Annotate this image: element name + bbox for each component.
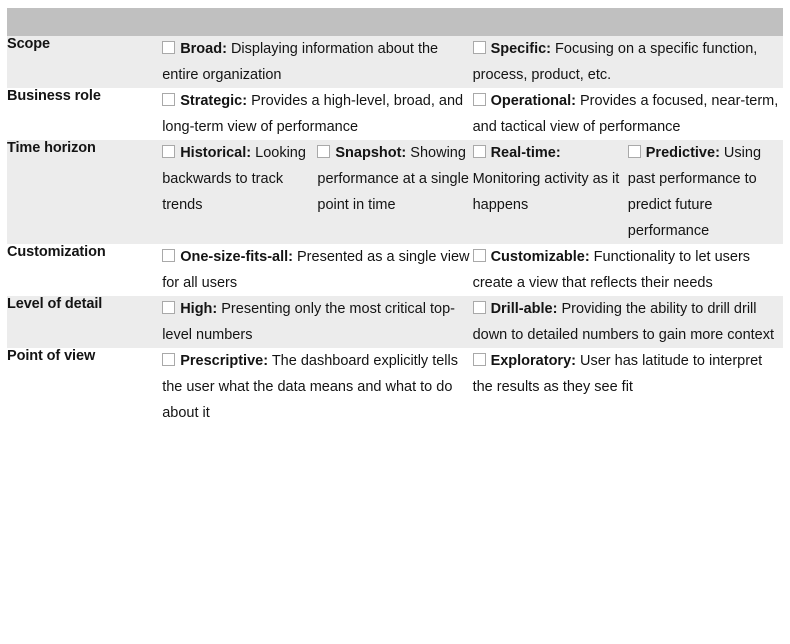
option-term: Predictive: — [646, 145, 720, 161]
option-content: Specific: Focusing on a specific functio… — [473, 36, 783, 88]
table-row: Point of viewPrescriptive: The dashboard… — [7, 348, 783, 426]
checkbox-empty-icon[interactable] — [162, 249, 175, 262]
checkbox-empty-icon[interactable] — [473, 145, 486, 158]
checkbox-empty-icon[interactable] — [473, 41, 486, 54]
option-content: Historical: Looking backwards to track t… — [162, 140, 317, 218]
option-term: Drill-able: — [491, 301, 558, 317]
option-content: Operational: Provides a focused, near-te… — [473, 88, 783, 140]
option-term: Operational: — [491, 93, 576, 109]
option-term: High: — [180, 301, 217, 317]
table-body: ScopeBroad: Displaying information about… — [7, 8, 783, 426]
option-term: Prescriptive: — [180, 353, 268, 369]
option-cell[interactable]: Customizable: Functionality to let users… — [473, 244, 783, 296]
checkbox-empty-icon[interactable] — [162, 93, 175, 106]
option-cell[interactable]: Real-time: Monitoring activity as it hap… — [473, 140, 628, 244]
checkbox-empty-icon[interactable] — [162, 353, 175, 366]
dashboard-characteristics-table: ScopeBroad: Displaying information about… — [7, 8, 783, 426]
table-row: Level of detailHigh: Presenting only the… — [7, 296, 783, 348]
table-header-bar — [7, 8, 783, 36]
checkbox-empty-icon[interactable] — [317, 145, 330, 158]
option-content: High: Presenting only the most critical … — [162, 296, 472, 348]
option-cell[interactable]: Exploratory: User has latitude to interp… — [473, 348, 783, 426]
checkbox-empty-icon[interactable] — [162, 145, 175, 158]
option-term: One-size-fits-all: — [180, 249, 293, 265]
checkbox-empty-icon[interactable] — [473, 353, 486, 366]
table-row: Business roleStrategic: Provides a high-… — [7, 88, 783, 140]
option-term: Specific: — [491, 41, 551, 57]
checkbox-empty-icon[interactable] — [473, 93, 486, 106]
checkbox-empty-icon[interactable] — [628, 145, 641, 158]
option-cell[interactable]: Broad: Displaying information about the … — [162, 36, 472, 88]
table-row: ScopeBroad: Displaying information about… — [7, 36, 783, 88]
option-cell[interactable]: Predictive: Using past performance to pr… — [628, 140, 783, 244]
option-term: Real-time: — [491, 145, 561, 161]
option-cell[interactable]: Snapshot: Showing performance at a singl… — [317, 140, 472, 244]
option-cell[interactable]: High: Presenting only the most critical … — [162, 296, 472, 348]
option-term: Strategic: — [180, 93, 247, 109]
row-label-5: Point of view — [7, 348, 162, 426]
option-content: Real-time: Monitoring activity as it hap… — [473, 140, 628, 218]
option-content: Predictive: Using past performance to pr… — [628, 140, 783, 244]
table-row: Time horizonHistorical: Looking backward… — [7, 140, 783, 244]
option-cell[interactable]: Operational: Provides a focused, near-te… — [473, 88, 783, 140]
option-term: Snapshot: — [335, 145, 406, 161]
option-term: Customizable: — [491, 249, 590, 265]
option-cell[interactable]: Historical: Looking backwards to track t… — [162, 140, 317, 244]
row-label-0: Scope — [7, 36, 162, 88]
checkbox-empty-icon[interactable] — [162, 301, 175, 314]
option-content: Snapshot: Showing performance at a singl… — [317, 140, 472, 218]
row-label-2: Time horizon — [7, 140, 162, 244]
option-term: Historical: — [180, 145, 251, 161]
option-term: Broad: — [180, 41, 227, 57]
row-label-4: Level of detail — [7, 296, 162, 348]
table-row: CustomizationOne-size-fits-all: Presente… — [7, 244, 783, 296]
option-cell[interactable]: Strategic: Provides a high-level, broad,… — [162, 88, 472, 140]
row-label-3: Customization — [7, 244, 162, 296]
option-content: One-size-fits-all: Presented as a single… — [162, 244, 472, 296]
option-description: Monitoring activity as it happens — [473, 171, 620, 213]
option-content: Customizable: Functionality to let users… — [473, 244, 783, 296]
option-content: Prescriptive: The dashboard explicitly t… — [162, 348, 472, 426]
option-content: Exploratory: User has latitude to interp… — [473, 348, 783, 400]
option-content: Strategic: Provides a high-level, broad,… — [162, 88, 472, 140]
checkbox-empty-icon[interactable] — [162, 41, 175, 54]
checkbox-empty-icon[interactable] — [473, 301, 486, 314]
option-cell[interactable]: Prescriptive: The dashboard explicitly t… — [162, 348, 472, 426]
option-term: Exploratory: — [491, 353, 576, 369]
option-cell[interactable]: One-size-fits-all: Presented as a single… — [162, 244, 472, 296]
option-content: Drill-able: Providing the ability to dri… — [473, 296, 783, 348]
row-label-1: Business role — [7, 88, 162, 140]
table-header-cell — [7, 8, 783, 36]
option-content: Broad: Displaying information about the … — [162, 36, 472, 88]
option-cell[interactable]: Specific: Focusing on a specific functio… — [473, 36, 783, 88]
checkbox-empty-icon[interactable] — [473, 249, 486, 262]
option-cell[interactable]: Drill-able: Providing the ability to dri… — [473, 296, 783, 348]
